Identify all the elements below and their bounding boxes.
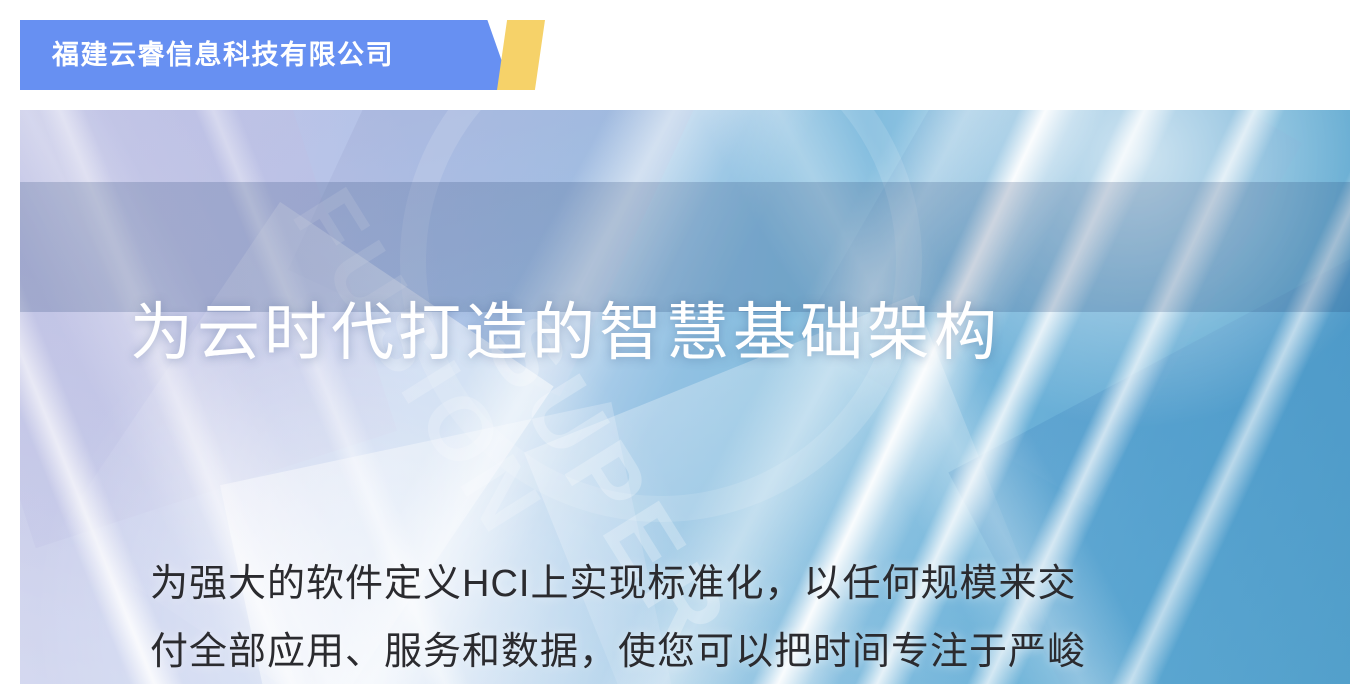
hero-body-paragraph: 为强大的软件定义HCI上实现标准化，以任何规模来交 付全部应用、服务和数据，使您… xyxy=(150,550,1210,684)
hero-body-line: 付全部应用、服务和数据，使您可以把时间专注于严峻 xyxy=(150,618,1210,684)
hero-body-line: 为强大的软件定义HCI上实现标准化，以任何规模来交 xyxy=(150,550,1210,618)
hero-banner-image: SUPER FUSION 为云时代打造的智慧基础架构 为强大的软件定义HCI上实… xyxy=(20,110,1350,684)
headline-scrim-band xyxy=(20,182,1350,312)
hero-headline: 为云时代打造的智慧基础架构 xyxy=(130,302,1001,365)
accent-stripe-decoration xyxy=(497,20,545,90)
company-name-tag: 福建云睿信息科技有限公司 xyxy=(20,20,512,90)
company-name-label: 福建云睿信息科技有限公司 xyxy=(52,20,394,90)
header-banner: 福建云睿信息科技有限公司 xyxy=(0,0,1364,100)
